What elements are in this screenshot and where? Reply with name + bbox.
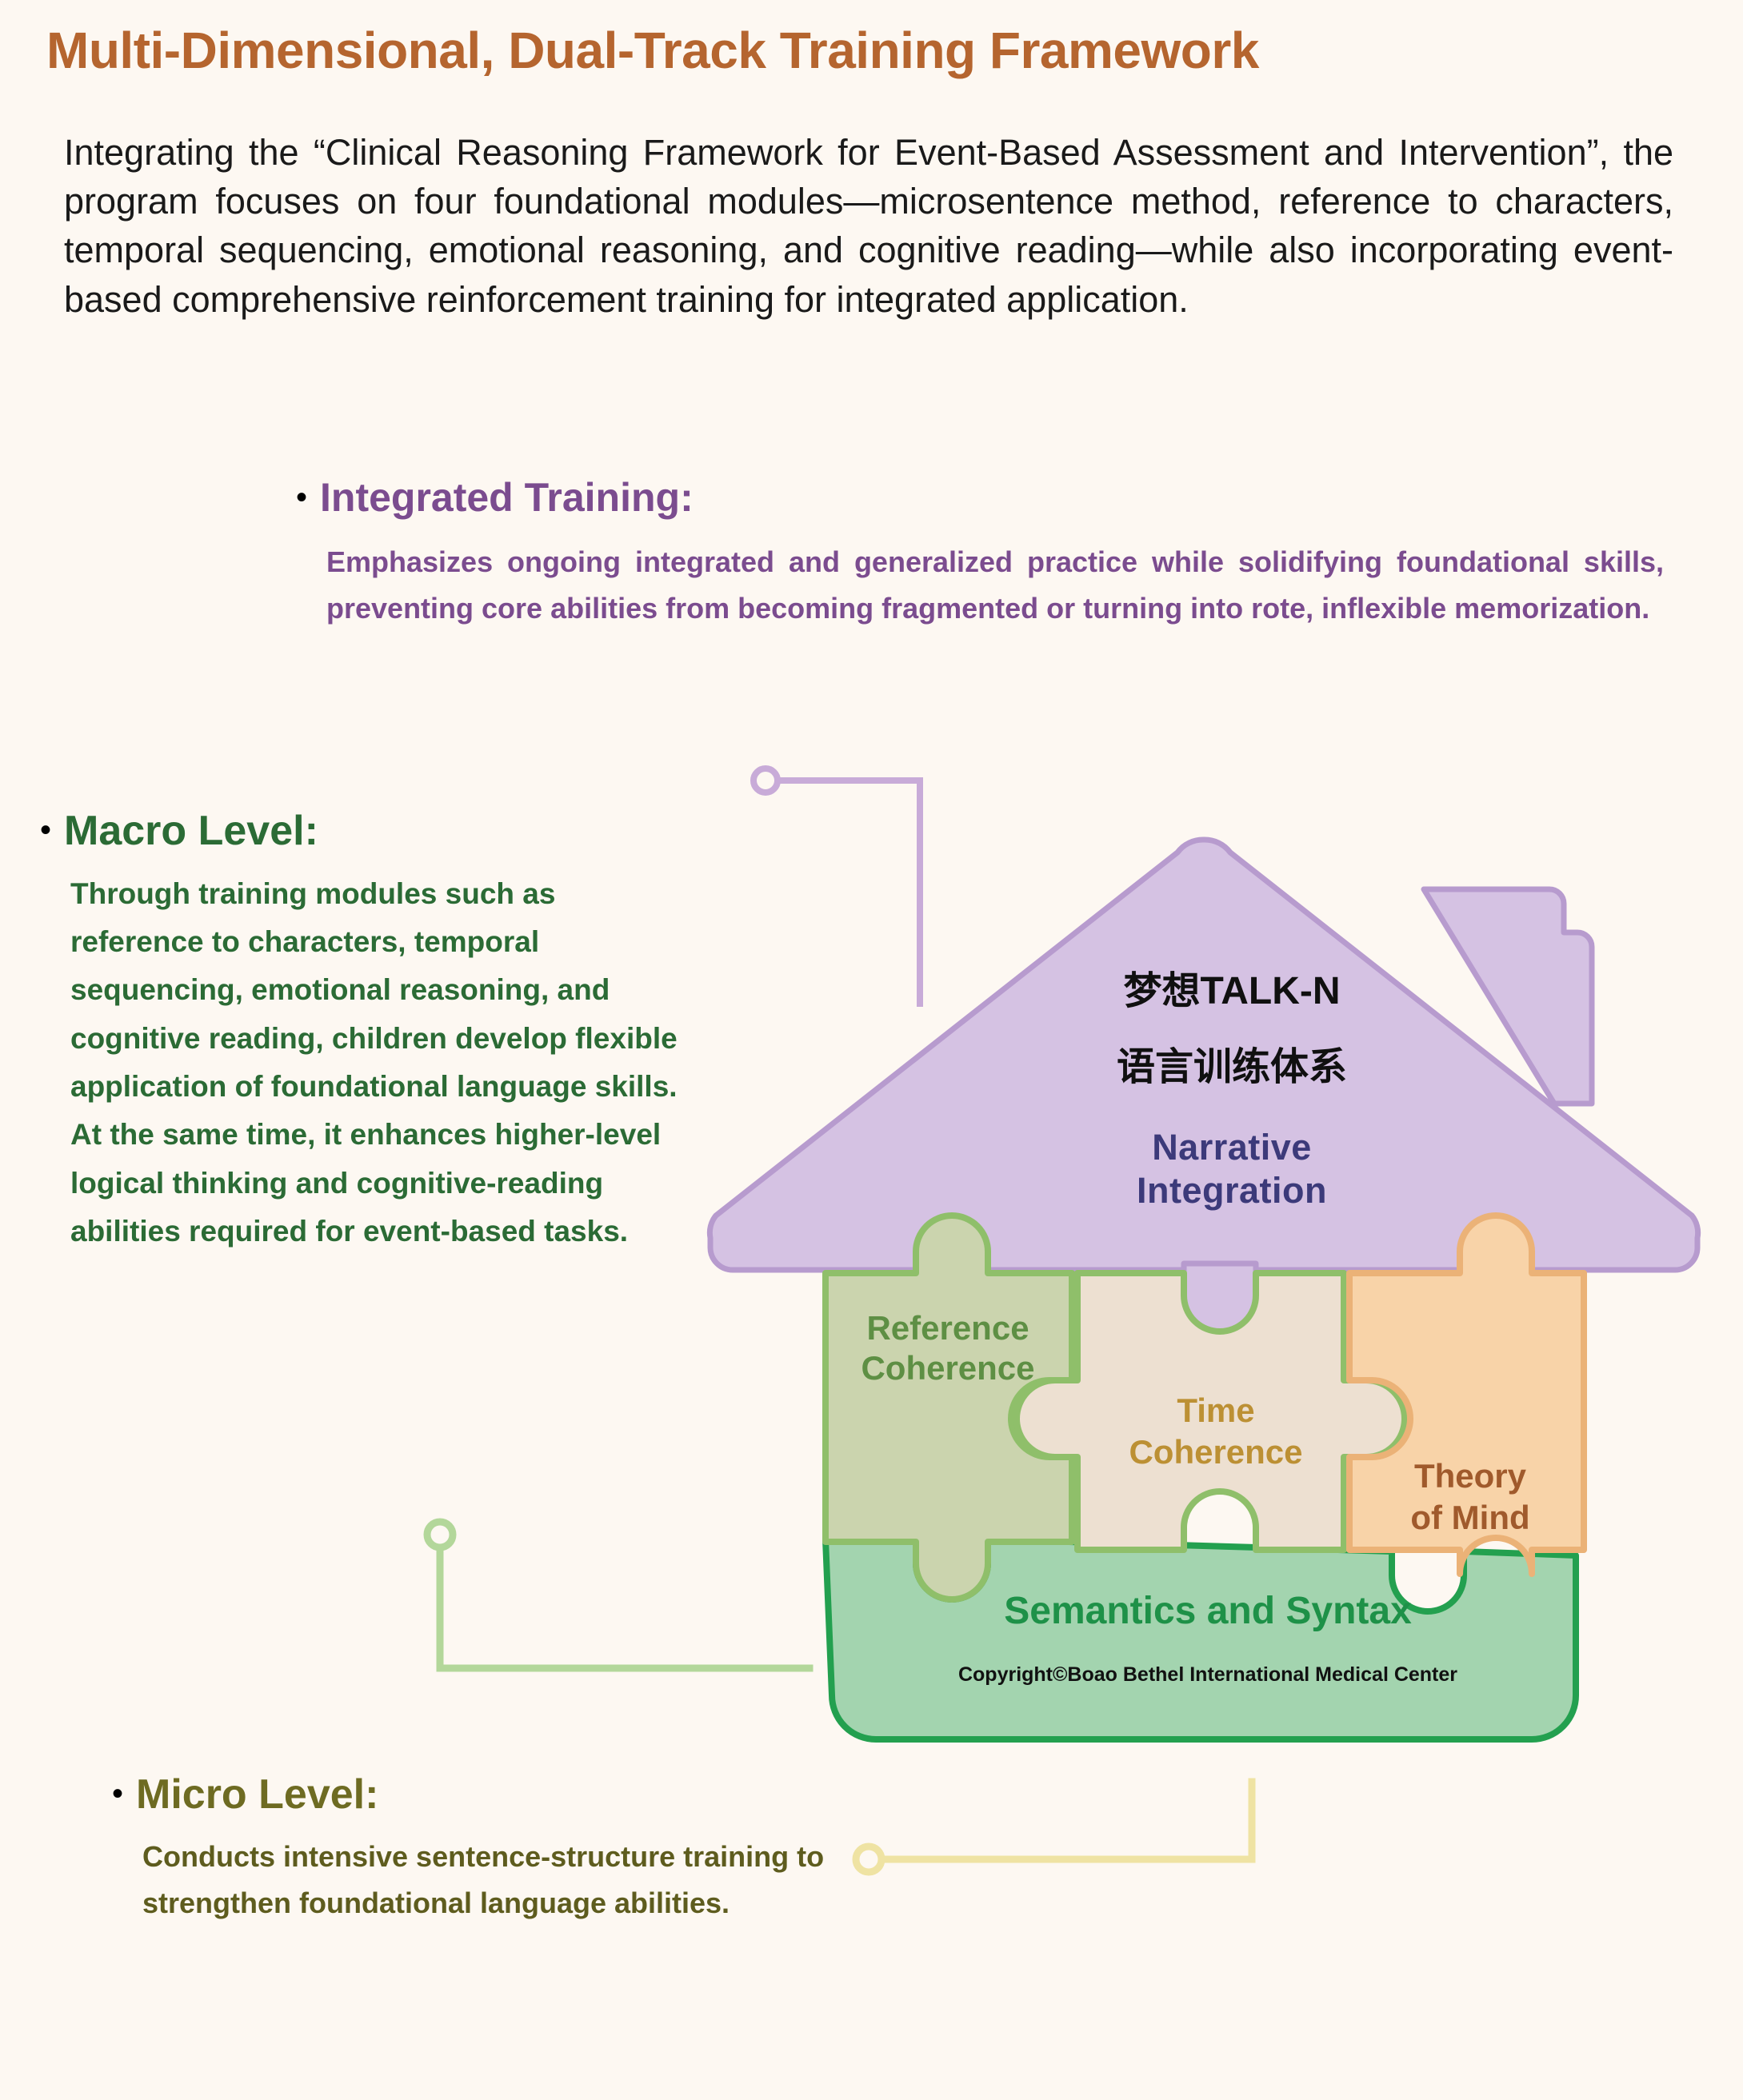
integrated-training-heading-row: • Integrated Training: bbox=[296, 475, 1688, 521]
theory-of-mind-label-line2: of Mind bbox=[1410, 1499, 1529, 1536]
roof-label-en-line1: Narrative bbox=[1152, 1127, 1312, 1168]
bullet-icon: • bbox=[112, 1771, 123, 1810]
roof-label-cn-line2: 语言训练体系 bbox=[1117, 1046, 1347, 1088]
connector-micro-level bbox=[856, 1782, 1252, 1872]
micro-level-body: Conducts intensive sentence-structure tr… bbox=[142, 1834, 830, 1927]
micro-level-title: Micro Level: bbox=[136, 1771, 378, 1819]
micro-level-heading-row: • Micro Level: bbox=[112, 1771, 856, 1819]
macro-level-body: Through training modules such as referen… bbox=[70, 870, 678, 1256]
reference-coherence-label-line1: Reference bbox=[866, 1309, 1029, 1347]
semantics-and-syntax-label: Semantics and Syntax bbox=[1004, 1590, 1412, 1632]
bullet-icon: • bbox=[40, 808, 51, 846]
integrated-training-body: Emphasizes ongoing integrated and genera… bbox=[326, 539, 1664, 633]
copyright-text: Copyright©Boao Bethel International Medi… bbox=[958, 1663, 1457, 1686]
page-title: Multi-Dimensional, Dual-Track Training F… bbox=[46, 22, 1566, 78]
intro-paragraph: Integrating the “Clinical Reasoning Fram… bbox=[64, 128, 1673, 324]
integrated-training-title: Integrated Training: bbox=[320, 475, 694, 521]
block-integrated-training: • Integrated Training: Emphasizes ongoin… bbox=[296, 475, 1688, 632]
bullet-icon: • bbox=[296, 475, 307, 513]
roof-label-cn-line1: 梦想TALK-N bbox=[1123, 970, 1340, 1012]
theory-of-mind-label-line1: Theory bbox=[1414, 1457, 1527, 1495]
roof-label-en-line2: Integration bbox=[1137, 1170, 1327, 1211]
block-macro-level: • Macro Level: Through training modules … bbox=[40, 808, 704, 1256]
macro-level-heading-row: • Macro Level: bbox=[40, 808, 704, 856]
macro-level-title: Macro Level: bbox=[64, 808, 318, 856]
infographic-page: Multi-Dimensional, Dual-Track Training F… bbox=[0, 0, 1743, 2100]
time-coherence-label-line1: Time bbox=[1177, 1391, 1254, 1429]
house-puzzle-diagram: 梦想TALK-N 语言训练体系 Narrative Integration Se… bbox=[688, 816, 1728, 1775]
time-coherence-label-line2: Coherence bbox=[1129, 1433, 1302, 1471]
reference-coherence-label-line2: Coherence bbox=[861, 1349, 1034, 1387]
block-micro-level: • Micro Level: Conducts intensive senten… bbox=[112, 1771, 856, 1926]
